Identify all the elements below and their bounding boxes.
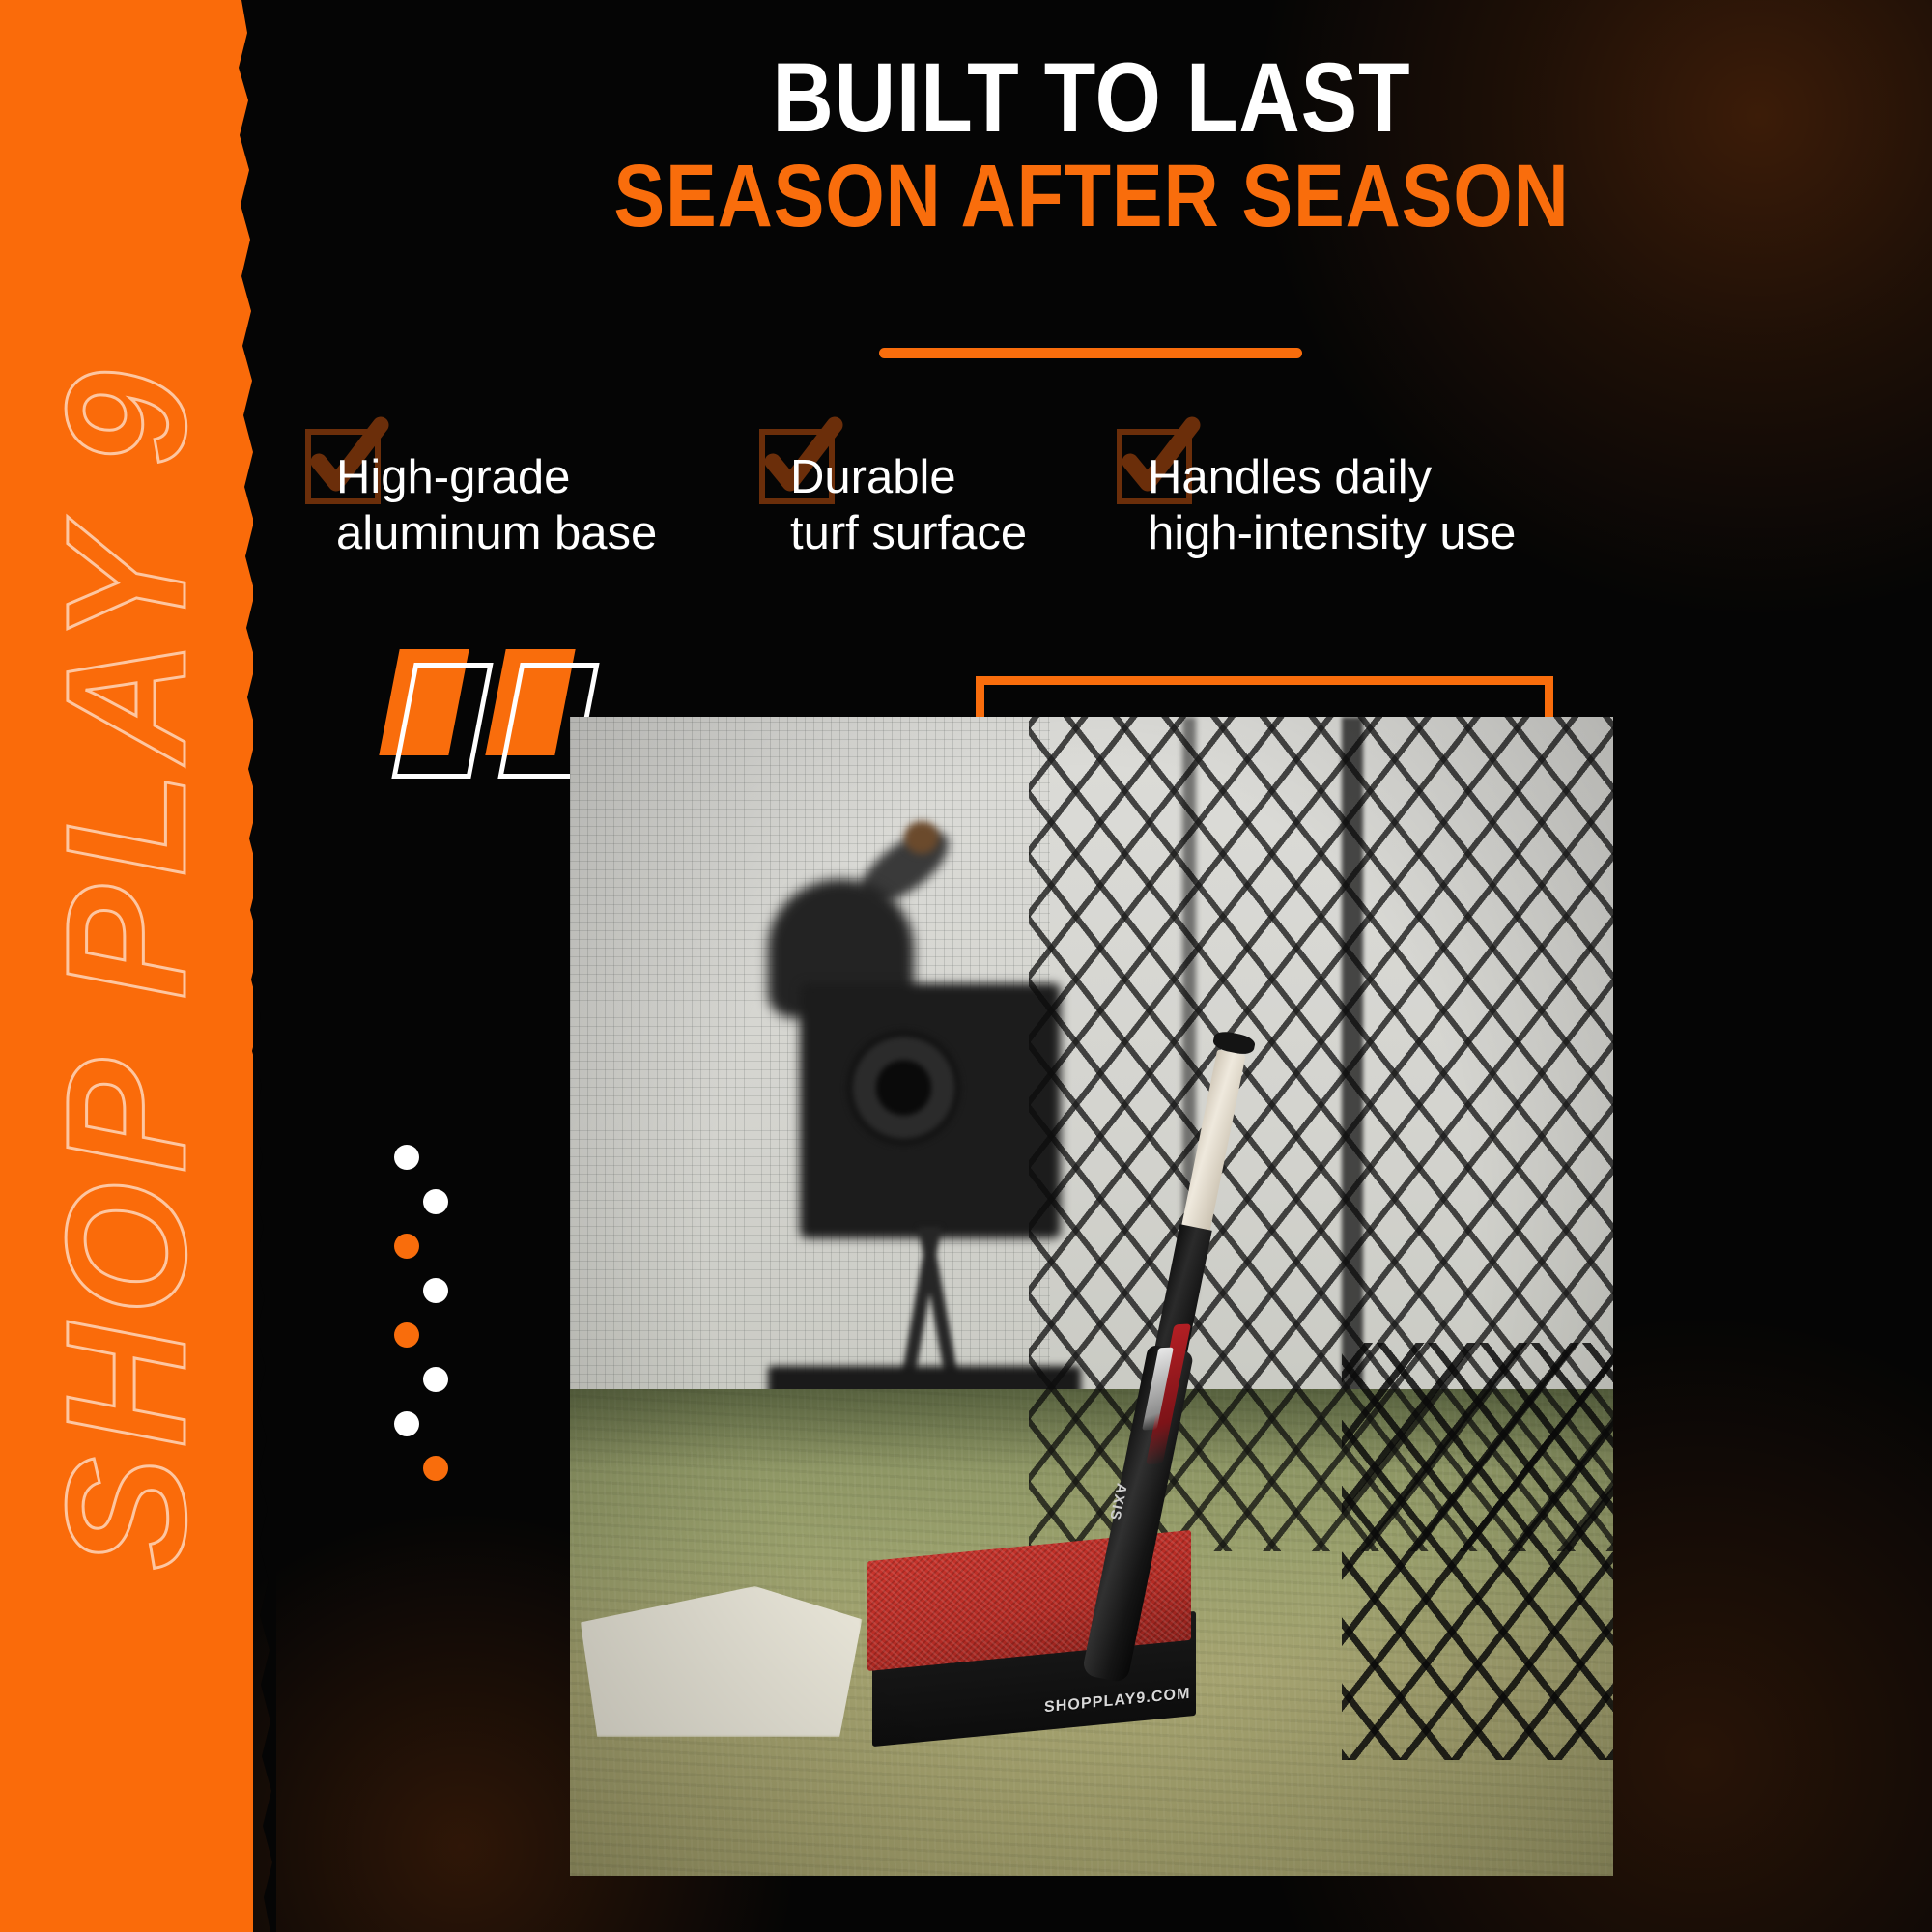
- feature-line-1: Handles daily: [1148, 450, 1594, 506]
- headline-line-2: SEASON AFTER SEASON: [402, 154, 1781, 240]
- dot: [394, 1234, 419, 1259]
- pitching-machine-legs: [810, 1227, 1049, 1389]
- headline-divider: [879, 348, 1302, 358]
- headline: BUILT TO LAST SEASON AFTER SEASON: [290, 50, 1893, 240]
- promo-graphic: SHOP PLAY 9 BUILT TO LAST SEASON AFTER S…: [0, 0, 1932, 1932]
- dot: [394, 1411, 419, 1436]
- rail-torn-edge: [232, 0, 276, 1932]
- feature-item: Handles daily high-intensity use: [1111, 415, 1594, 562]
- dot: [423, 1456, 448, 1481]
- baseball: [904, 821, 940, 854]
- brand-rail: SHOP PLAY 9: [0, 0, 253, 1932]
- feature-line-1: High-grade: [336, 450, 736, 506]
- feature-list: High-grade aluminum base Durable turf su…: [299, 415, 1903, 562]
- feature-text: High-grade aluminum base: [299, 415, 736, 562]
- product-photo: SHOPPLAY9.COM AXIS: [570, 717, 1613, 1876]
- feature-line-1: Durable: [790, 450, 1094, 506]
- brand-rail-label: SHOP PLAY 9: [42, 361, 212, 1570]
- feature-item: Durable turf surface: [753, 415, 1094, 562]
- cage-netting-lower: [1342, 1343, 1613, 1760]
- feature-item: High-grade aluminum base: [299, 415, 736, 562]
- headline-line-1: BUILT TO LAST: [402, 50, 1781, 146]
- feature-line-2: turf surface: [790, 506, 1094, 562]
- pitching-machine-wheel: [846, 1030, 961, 1146]
- feature-text: Durable turf surface: [753, 415, 1094, 562]
- dot: [394, 1322, 419, 1348]
- dot: [423, 1367, 448, 1392]
- dot: [423, 1278, 448, 1303]
- feature-line-2: high-intensity use: [1148, 506, 1594, 562]
- feature-text: Handles daily high-intensity use: [1111, 415, 1594, 562]
- dot: [423, 1189, 448, 1214]
- dot: [394, 1145, 419, 1170]
- feature-line-2: aluminum base: [336, 506, 736, 562]
- dot-pattern: [394, 1145, 481, 1444]
